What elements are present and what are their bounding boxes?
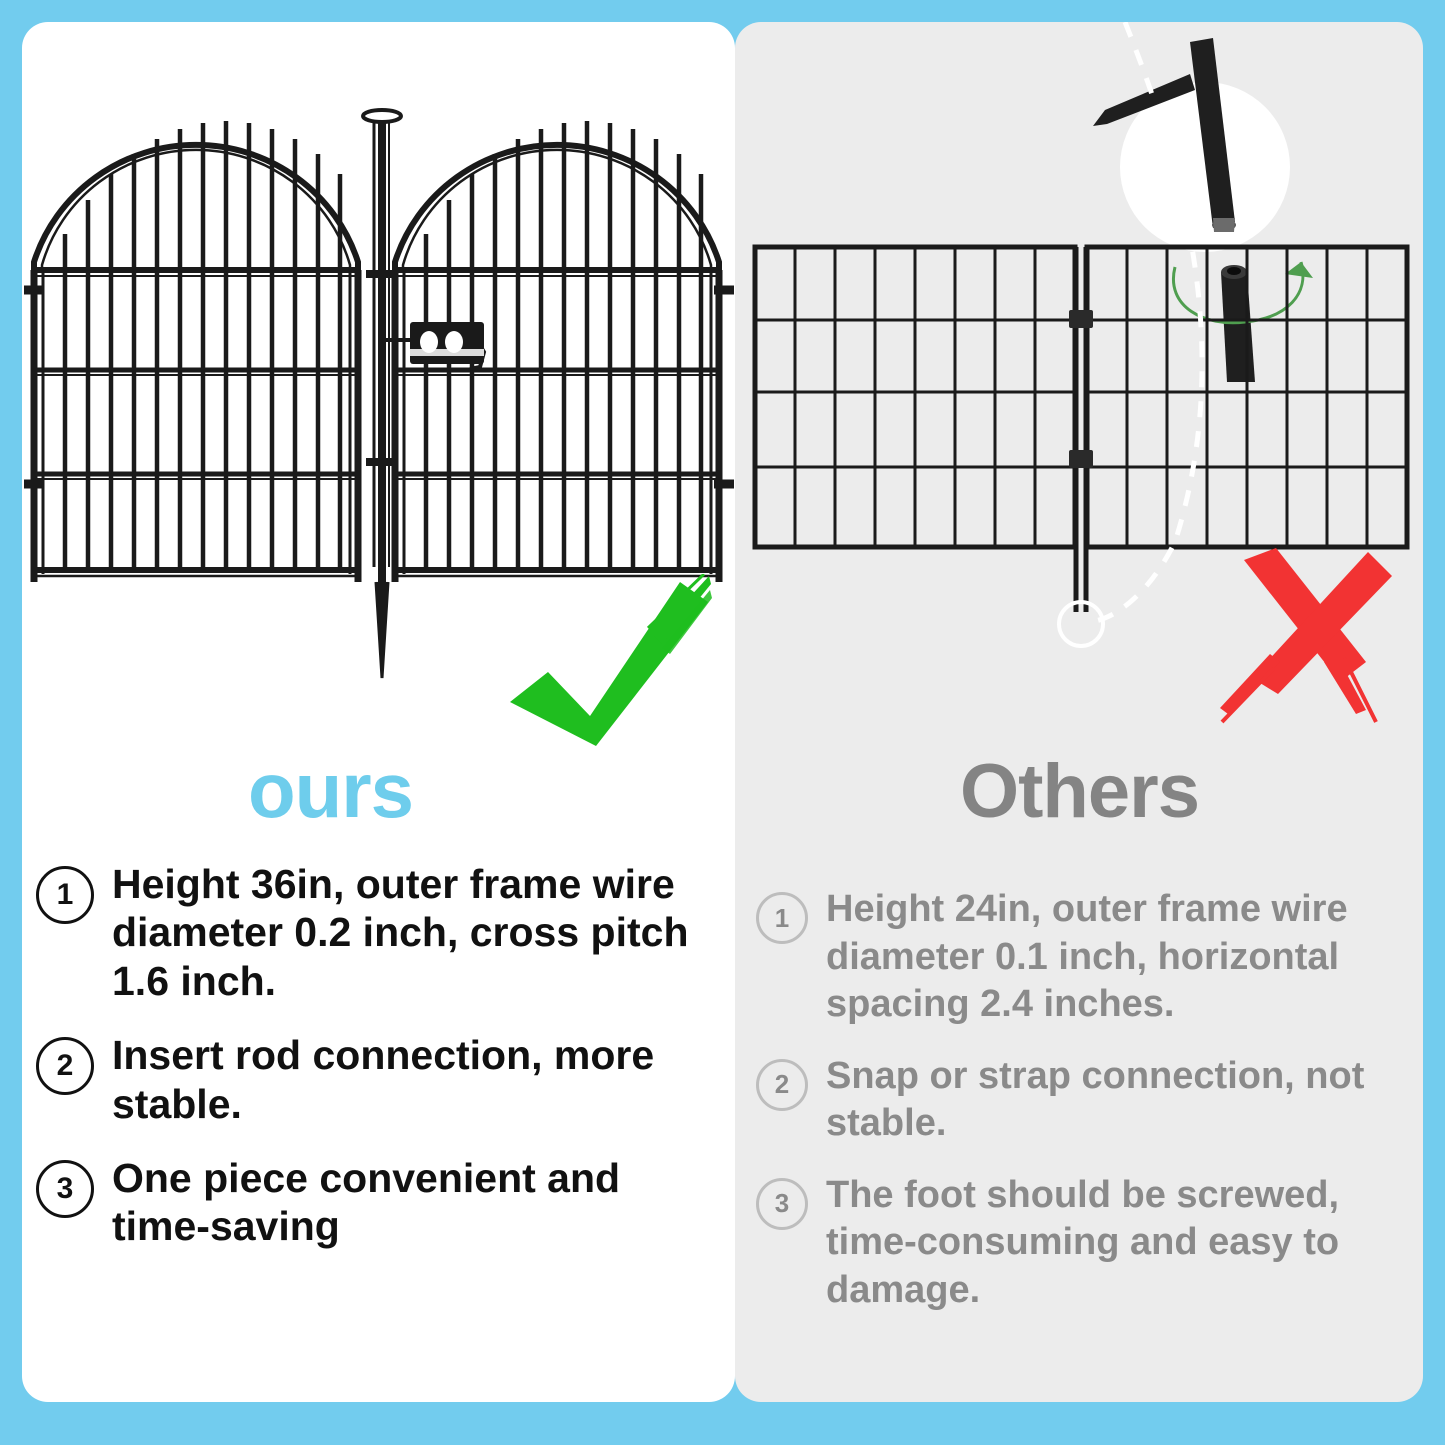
feature-number: 2	[756, 1059, 808, 1111]
install-path-endpoint	[1059, 602, 1103, 646]
ours-heading: ours	[248, 745, 413, 836]
feature-text: Insert rod connection, more stable.	[112, 1031, 726, 1128]
rod-cap	[363, 110, 401, 122]
feature-number: 3	[756, 1178, 808, 1230]
center-seam	[1076, 247, 1086, 612]
comparison-infographic: ours Others 1 Height 36in, outer frame w…	[0, 0, 1445, 1445]
mesh-panel-right	[1087, 247, 1407, 547]
feature-item: 3 One piece convenient and time-saving	[36, 1154, 726, 1251]
feature-number: 3	[36, 1160, 94, 1218]
feature-text: Height 36in, outer frame wire diameter 0…	[112, 860, 726, 1005]
feature-item: 3 The foot should be screwed, time-consu…	[756, 1172, 1416, 1315]
clamp-connector	[410, 322, 484, 364]
feature-item: 1 Height 24in, outer frame wire diameter…	[756, 886, 1416, 1029]
others-heading: Others	[960, 748, 1199, 835]
others-feature-list: 1 Height 24in, outer frame wire diameter…	[756, 886, 1416, 1338]
feature-number: 2	[36, 1037, 94, 1095]
feature-text: Snap or strap connection, not stable.	[826, 1053, 1416, 1148]
feature-item: 2 Snap or strap connection, not stable.	[756, 1053, 1416, 1148]
feature-text: Height 24in, outer frame wire diameter 0…	[826, 886, 1416, 1029]
feature-item: 2 Insert rod connection, more stable.	[36, 1031, 726, 1128]
feature-number: 1	[36, 866, 94, 924]
mesh-panel-left	[755, 247, 1075, 547]
feature-number: 1	[756, 892, 808, 944]
feature-item: 1 Height 36in, outer frame wire diameter…	[36, 860, 726, 1005]
red-cross-icon	[1216, 542, 1396, 732]
green-check-icon	[504, 574, 714, 749]
feature-text: The foot should be screwed, time-consumi…	[826, 1172, 1416, 1315]
feature-text: One piece convenient and time-saving	[112, 1154, 726, 1251]
ours-feature-list: 1 Height 36in, outer frame wire diameter…	[36, 860, 726, 1277]
fence-panel-left	[34, 121, 358, 582]
